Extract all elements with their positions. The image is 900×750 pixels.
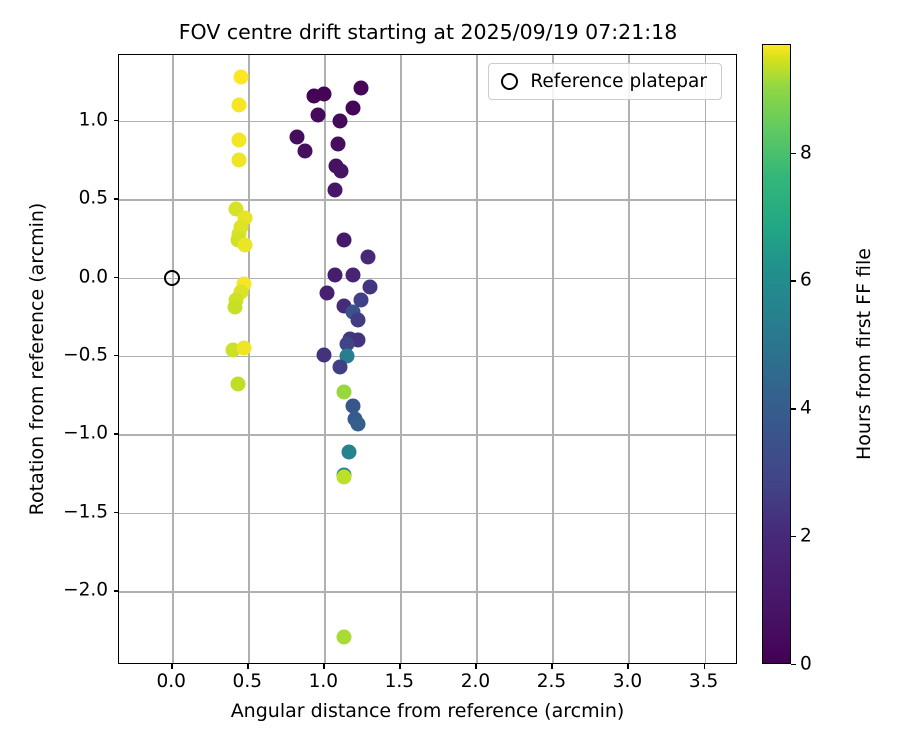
x-tick-mark-7 xyxy=(704,664,705,669)
x-tick-label-5: 2.5 xyxy=(537,671,566,692)
y-tick-label-4: 0.0 xyxy=(79,266,108,287)
colorbar-tick-label-2: 4 xyxy=(800,398,812,419)
x-tick-mark-6 xyxy=(627,664,628,669)
legend-host: Reference platepar xyxy=(119,55,736,663)
x-tick-label-4: 2.0 xyxy=(461,671,490,692)
legend: Reference platepar xyxy=(488,63,722,100)
reference-platepar-marker-icon xyxy=(501,73,518,90)
x-tick-mark-4 xyxy=(475,664,476,669)
x-tick-mark-1 xyxy=(247,664,248,669)
colorbar-tick-mark-4 xyxy=(791,153,796,154)
y-tick-mark-0 xyxy=(114,590,119,591)
y-axis-label: Rotation from reference (arcmin) xyxy=(26,54,48,664)
x-tick-mark-5 xyxy=(551,664,552,669)
colorbar xyxy=(762,44,791,664)
y-tick-label-1: −1.5 xyxy=(63,501,108,522)
x-tick-label-7: 3.5 xyxy=(689,671,718,692)
y-tick-mark-3 xyxy=(114,355,119,356)
y-tick-mark-4 xyxy=(114,277,119,278)
x-tick-mark-3 xyxy=(399,664,400,669)
colorbar-tick-label-3: 6 xyxy=(800,270,812,291)
colorbar-gradient xyxy=(762,44,791,664)
y-tick-label-5: 0.5 xyxy=(79,188,108,209)
x-tick-label-6: 3.0 xyxy=(613,671,642,692)
x-axis-label: Angular distance from reference (arcmin) xyxy=(118,700,737,722)
scatter-plot-axes: Reference platepar xyxy=(118,54,737,664)
legend-item-label: Reference platepar xyxy=(530,71,707,92)
x-tick-label-0: 0.0 xyxy=(157,671,186,692)
x-tick-mark-0 xyxy=(171,664,172,669)
page-title: FOV centre drift starting at 2025/09/19 … xyxy=(118,20,738,44)
y-tick-label-0: −2.0 xyxy=(63,580,108,601)
colorbar-tick-mark-1 xyxy=(791,536,796,537)
y-tick-label-3: −0.5 xyxy=(63,345,108,366)
y-tick-label-2: −1.0 xyxy=(63,423,108,444)
colorbar-tick-label-0: 0 xyxy=(800,654,812,675)
colorbar-tick-mark-2 xyxy=(791,408,796,409)
x-tick-label-3: 1.5 xyxy=(385,671,414,692)
y-tick-label-6: 1.0 xyxy=(79,109,108,130)
y-tick-mark-1 xyxy=(114,512,119,513)
colorbar-tick-label-4: 8 xyxy=(800,142,812,163)
colorbar-tick-label-1: 2 xyxy=(800,526,812,547)
figure-root: FOV centre drift starting at 2025/09/19 … xyxy=(0,0,900,750)
x-tick-label-2: 1.0 xyxy=(309,671,338,692)
colorbar-tick-mark-0 xyxy=(791,664,796,665)
colorbar-tick-mark-3 xyxy=(791,280,796,281)
x-tick-label-1: 0.5 xyxy=(233,671,262,692)
y-tick-mark-5 xyxy=(114,198,119,199)
colorbar-label: Hours from first FF file xyxy=(853,44,875,664)
y-tick-mark-2 xyxy=(114,433,119,434)
y-tick-mark-6 xyxy=(114,120,119,121)
x-tick-mark-2 xyxy=(323,664,324,669)
